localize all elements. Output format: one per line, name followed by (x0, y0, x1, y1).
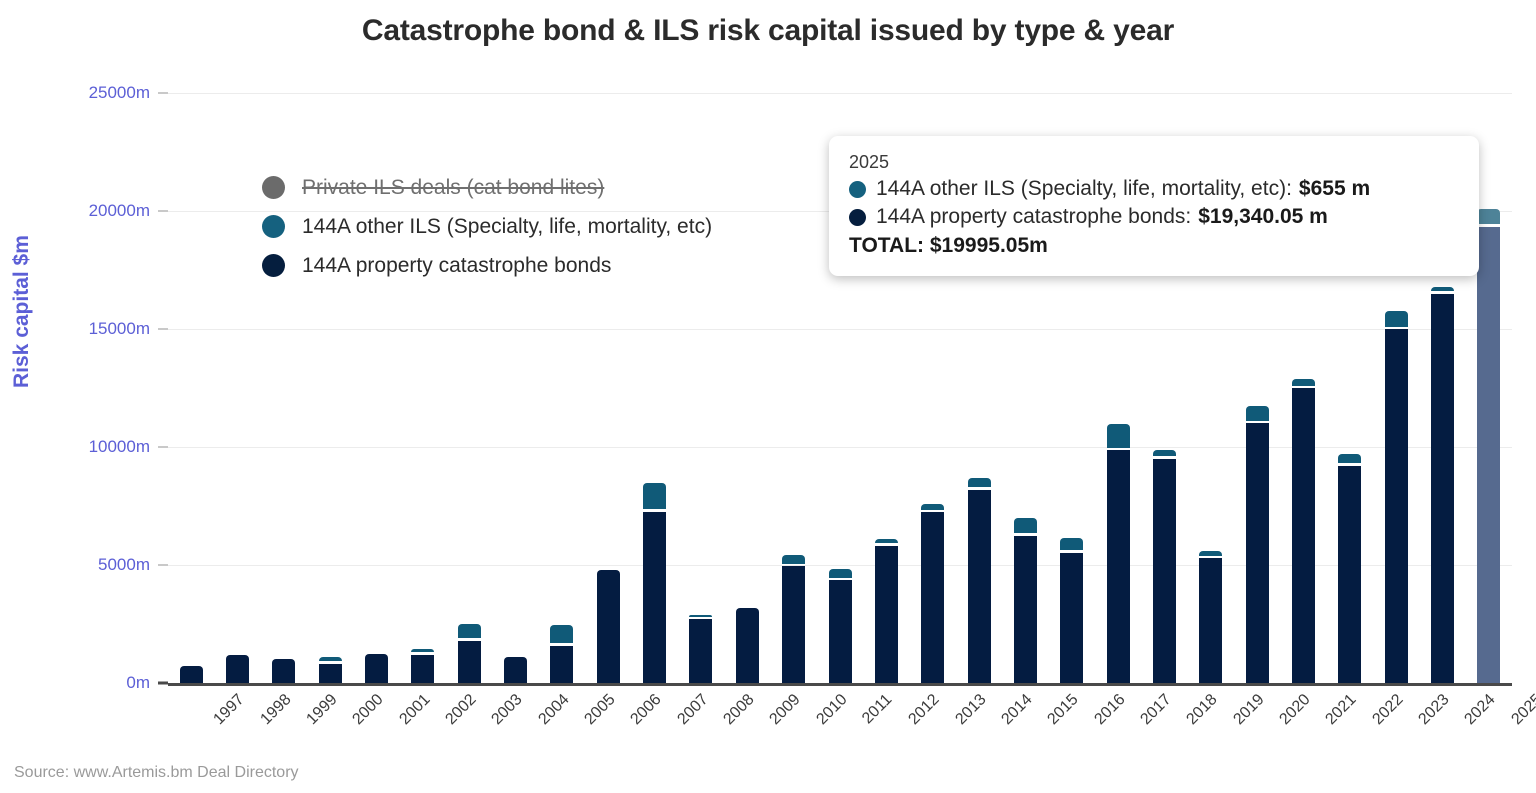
chart-page: Catastrophe bond & ILS risk capital issu… (0, 0, 1536, 793)
bar-segment-property-cat[interactable] (1153, 459, 1176, 683)
bar-segment-other-ils[interactable] (1477, 209, 1500, 224)
y-axis-tick-mark (158, 328, 168, 330)
x-axis-tick-label: 2008 (720, 691, 758, 729)
x-axis-tick-label: 1998 (257, 691, 295, 729)
x-axis-tick-label: 2018 (1184, 691, 1222, 729)
bar-segment-other-ils[interactable] (921, 504, 944, 509)
bar-segment-property-cat[interactable] (736, 608, 759, 683)
bar-segment-other-ils[interactable] (1385, 311, 1408, 326)
legend-dot-icon (262, 254, 285, 277)
bar-group[interactable] (1477, 93, 1500, 683)
x-axis-tick-label: 2011 (859, 691, 896, 728)
tooltip-series-value: $655 m (1299, 177, 1370, 201)
chart-tooltip: 2025 144A other ILS (Specialty, life, mo… (829, 136, 1479, 276)
bar-segment-property-cat[interactable] (689, 619, 712, 683)
y-axis-tick-label: 25000m (89, 83, 150, 103)
x-axis-tick-label: 2009 (767, 691, 805, 729)
x-axis-tick-label: 2014 (998, 691, 1036, 729)
x-axis-tick-label: 2010 (813, 691, 851, 729)
y-axis-tick-mark (158, 92, 168, 94)
bar-segment-property-cat[interactable] (272, 659, 295, 683)
legend-dot-icon (262, 176, 285, 199)
bar-segment-property-cat[interactable] (968, 490, 991, 683)
bar-segment-other-ils[interactable] (458, 624, 481, 638)
bar-segment-property-cat[interactable] (921, 512, 944, 683)
x-axis-tick-label: 2000 (350, 691, 388, 729)
bar-group[interactable] (180, 93, 203, 683)
bar-segment-property-cat[interactable] (1199, 558, 1222, 683)
bar-segment-other-ils[interactable] (550, 625, 573, 643)
bar-group[interactable] (782, 93, 805, 683)
x-axis-tick-label: 2012 (906, 691, 944, 729)
source-caption: Source: www.Artemis.bm Deal Directory (14, 764, 299, 782)
bar-segment-other-ils[interactable] (1246, 406, 1269, 421)
bar-segment-other-ils[interactable] (829, 569, 852, 578)
bar-segment-property-cat[interactable] (1014, 536, 1037, 683)
x-axis-tick-label: 1999 (303, 691, 341, 729)
tooltip-total: TOTAL: $19995.05m (849, 234, 1459, 258)
bar-segment-property-cat[interactable] (1385, 329, 1408, 683)
tooltip-series-name: 144A other ILS (Specialty, life, mortali… (876, 177, 1292, 201)
tooltip-row-0: 144A other ILS (Specialty, life, mortali… (849, 177, 1459, 201)
x-axis-tick-label: 2024 (1462, 691, 1500, 729)
y-axis-tick-label: 5000m (98, 555, 150, 575)
x-axis-tick-label: 2004 (535, 691, 573, 729)
x-axis-tick-label: 1997 (211, 691, 249, 729)
bar-segment-other-ils[interactable] (1060, 538, 1083, 550)
x-axis-tick-label: 2019 (1230, 691, 1268, 729)
legend-item-2[interactable]: 144A property catastrophe bonds (262, 246, 712, 285)
bar-segment-property-cat[interactable] (829, 580, 852, 683)
bar-segment-property-cat[interactable] (365, 654, 388, 683)
bar-segment-other-ils[interactable] (1107, 424, 1130, 447)
bar-segment-other-ils[interactable] (875, 539, 898, 543)
bar-segment-property-cat[interactable] (597, 570, 620, 683)
bar-segment-other-ils[interactable] (643, 483, 666, 509)
tooltip-dot-icon (849, 181, 866, 198)
x-axis-tick-label: 2007 (674, 691, 712, 729)
x-axis-tick-label: 2016 (1091, 691, 1129, 729)
bar-segment-property-cat[interactable] (458, 641, 481, 683)
bar-segment-other-ils[interactable] (1199, 551, 1222, 555)
x-axis-tick-label: 2017 (1137, 691, 1175, 729)
bar-segment-other-ils[interactable] (1338, 454, 1361, 463)
bar-segment-property-cat[interactable] (1477, 227, 1500, 683)
bar-group[interactable] (226, 93, 249, 683)
x-axis-tick-label: 2002 (442, 691, 480, 729)
bar-segment-other-ils[interactable] (782, 555, 805, 563)
tooltip-rows: 144A other ILS (Specialty, life, mortali… (849, 177, 1459, 229)
x-axis-tick-label: 2003 (489, 691, 527, 729)
bar-segment-property-cat[interactable] (319, 664, 342, 683)
x-axis-tick-label: 2025 (1508, 691, 1536, 729)
bar-segment-other-ils[interactable] (319, 657, 342, 661)
y-axis-tick-mark (158, 564, 168, 566)
bar-segment-other-ils[interactable] (1292, 379, 1315, 386)
tooltip-row-1: 144A property catastrophe bonds:$19,340.… (849, 205, 1459, 229)
bar-segment-other-ils[interactable] (1014, 518, 1037, 533)
bar-segment-other-ils[interactable] (411, 649, 434, 652)
tooltip-series-value: $19,340.05 m (1198, 205, 1328, 229)
tooltip-dot-icon (849, 209, 866, 226)
bar-segment-property-cat[interactable] (782, 566, 805, 683)
bar-segment-property-cat[interactable] (1292, 388, 1315, 683)
legend-item-0[interactable]: Private ILS deals (cat bond lites) (262, 168, 712, 207)
x-axis-tick-label: 2005 (581, 691, 619, 729)
x-axis-tick-label: 2001 (396, 691, 434, 729)
tooltip-title: 2025 (849, 152, 1459, 173)
bar-segment-property-cat[interactable] (226, 655, 249, 683)
x-axis-tick-label: 2015 (1045, 691, 1083, 729)
bar-segment-property-cat[interactable] (180, 666, 203, 683)
bar-segment-property-cat[interactable] (1431, 294, 1454, 683)
y-axis-tick-label: 10000m (89, 437, 150, 457)
bar-segment-other-ils[interactable] (968, 478, 991, 488)
legend-item-1[interactable]: 144A other ILS (Specialty, life, mortali… (262, 207, 712, 246)
bar-segment-property-cat[interactable] (1107, 450, 1130, 683)
legend-item-label: 144A property catastrophe bonds (302, 254, 611, 278)
tooltip-series-name: 144A property catastrophe bonds: (876, 205, 1191, 229)
bar-segment-property-cat[interactable] (875, 546, 898, 683)
y-axis-tick-label: 15000m (89, 319, 150, 339)
y-axis-tick-mark (158, 446, 168, 448)
x-axis-tick-label: 2020 (1277, 691, 1315, 729)
bar-segment-property-cat[interactable] (550, 646, 573, 683)
x-axis-tick-label: 2021 (1323, 691, 1361, 729)
x-axis-tick-label: 2006 (628, 691, 666, 729)
y-axis-title: Risk capital $m (10, 235, 34, 388)
y-axis-tick-mark (158, 210, 168, 212)
legend-dot-icon (262, 215, 285, 238)
x-axis-tick-label: 2023 (1416, 691, 1454, 729)
bar-segment-property-cat[interactable] (643, 512, 666, 683)
bar-segment-property-cat[interactable] (1338, 466, 1361, 683)
y-axis-tick-mark (158, 682, 168, 685)
bar-segment-property-cat[interactable] (1246, 423, 1269, 683)
bar-segment-property-cat[interactable] (504, 657, 527, 683)
bar-group[interactable] (736, 93, 759, 683)
y-axis-tick-label: 0m (126, 673, 150, 693)
bar-segment-property-cat[interactable] (411, 655, 434, 683)
x-axis-tick-label: 2022 (1369, 691, 1407, 729)
bar-segment-other-ils[interactable] (1431, 287, 1454, 291)
legend-item-label: 144A other ILS (Specialty, life, mortali… (302, 215, 712, 239)
chart-legend: Private ILS deals (cat bond lites)144A o… (262, 168, 712, 285)
y-axis-tick-label: 20000m (89, 201, 150, 221)
bar-segment-other-ils[interactable] (1153, 450, 1176, 456)
bar-segment-property-cat[interactable] (1060, 553, 1083, 684)
legend-item-label: Private ILS deals (cat bond lites) (302, 176, 604, 200)
page-title: Catastrophe bond & ILS risk capital issu… (0, 14, 1536, 48)
x-axis-line (168, 683, 1512, 686)
x-axis-tick-label: 2013 (952, 691, 990, 729)
bar-segment-other-ils[interactable] (689, 615, 712, 617)
